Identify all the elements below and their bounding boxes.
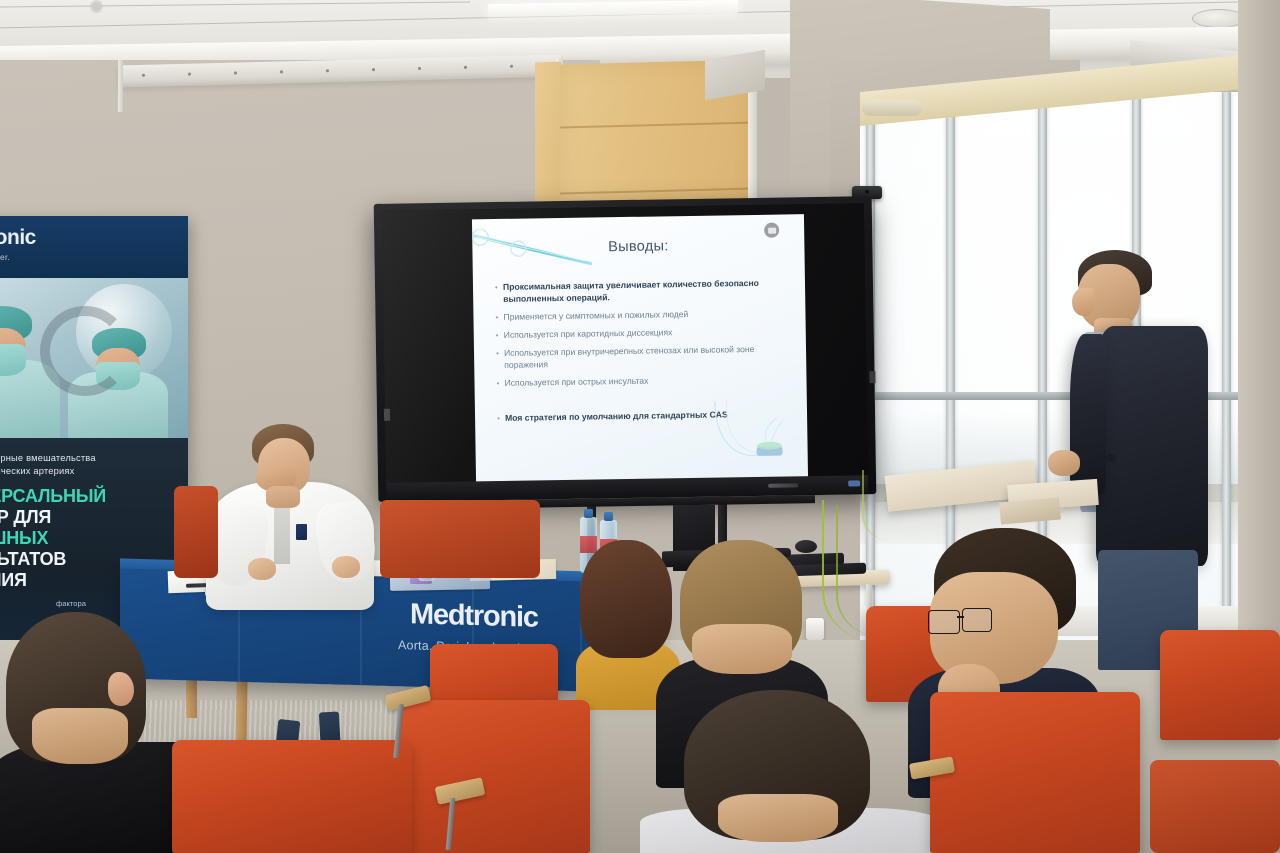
eyeglasses-icon [928,610,960,634]
bullet-dot-icon: • [495,281,503,294]
ear [108,672,134,706]
neck [692,624,792,674]
face-profile [1072,288,1094,316]
bullet-dot-icon: • [496,347,504,360]
display-panel: Выводы: • Проксимальная защита увеличива… [382,203,868,483]
banner-headline-line: ВЫБОР ДЛЯ [0,507,188,528]
display-power-led [848,480,860,486]
eyeglasses-icon [962,608,992,632]
banner-subtitle-line: на периферических артериях [0,465,182,478]
banner-tagline: Further. Together. [0,252,10,262]
blind-roller-icon [862,100,922,116]
bullet-dot-icon: • [496,329,504,342]
bullet-text: Используется при внутричерепных стенозах… [504,342,791,371]
bullet-dot-icon: • [497,412,505,425]
list-item: • Применяется у симптомных и пожилых люд… [495,306,790,324]
presentation-slide[interactable]: Выводы: • Проксимальная защита увеличива… [472,214,808,483]
eyeglasses-bridge-icon [957,616,964,618]
seated-demonstrator [196,424,396,624]
audience-chair[interactable] [172,740,412,853]
chair-back[interactable] [174,486,218,578]
hand-left [248,558,276,580]
c-arm-imaging-icon [40,306,130,396]
audience-chair[interactable] [400,700,590,853]
audience-member-front-right [640,690,930,853]
bullet-text: Проксимальная защита увеличивает количес… [503,276,790,305]
banner-headline-line: УНИВЕРСАЛЬНЫЙ [0,486,188,507]
neck [32,708,128,764]
sprinkler-icon [92,2,101,11]
camera-lens-icon [864,189,870,195]
button-icon [1106,454,1116,462]
blazer [1096,326,1208,566]
display-status-indicator [768,483,798,487]
interactive-display[interactable]: Выводы: • Проксимальная защита увеличива… [374,196,877,502]
conference-room-photo: Выводы: • Проксимальная защита увеличива… [0,0,1280,853]
list-item: • Проксимальная защита увеличивает колич… [495,276,790,305]
list-item: • Используется при каротидных диссекциях [496,324,791,342]
embolic-protection-device-graphic [713,396,794,467]
tablecloth-logo: Medtronic [410,598,538,635]
neck [266,486,300,508]
banner-subtitle: Эндоваскулярные вмешательства на перифер… [0,452,182,478]
right-wall-pillar [1238,0,1280,700]
id-badge [296,524,307,540]
audience-chair[interactable] [1150,760,1280,853]
banner-logo: Medtronic [0,226,36,250]
bullet-text: Моя стратегия по умолчанию для стандартн… [505,408,728,424]
audience-chair[interactable] [930,692,1140,853]
bullet-text: Применяется у симптомных и пожилых людей [503,308,688,323]
neck [718,794,838,842]
list-item: • Используется при острых инсультах [496,372,791,390]
display-side-button[interactable] [869,371,875,383]
list-item: • Используется при внутричерепных стеноз… [496,342,791,371]
banner-subtitle-line: Эндоваскулярные вмешательства [0,452,182,465]
chair-back[interactable] [380,500,540,578]
presentation-mode-icon[interactable] [764,223,779,238]
bullet-dot-icon: • [495,311,503,324]
hand-right [332,556,360,578]
hand [1048,450,1080,476]
bullet-text: Используется при каротидных диссекциях [504,326,673,341]
banner-photo-surgeons [0,278,188,438]
audience-chair[interactable] [1160,630,1280,740]
display-side-button[interactable] [384,409,390,421]
banner-headline-line: УСПЕШНЫХ [0,528,188,549]
wall-rail-bracket [118,60,123,112]
bullet-dot-icon: • [496,377,504,390]
bullet-text: Используется при острых инсультах [504,374,648,389]
